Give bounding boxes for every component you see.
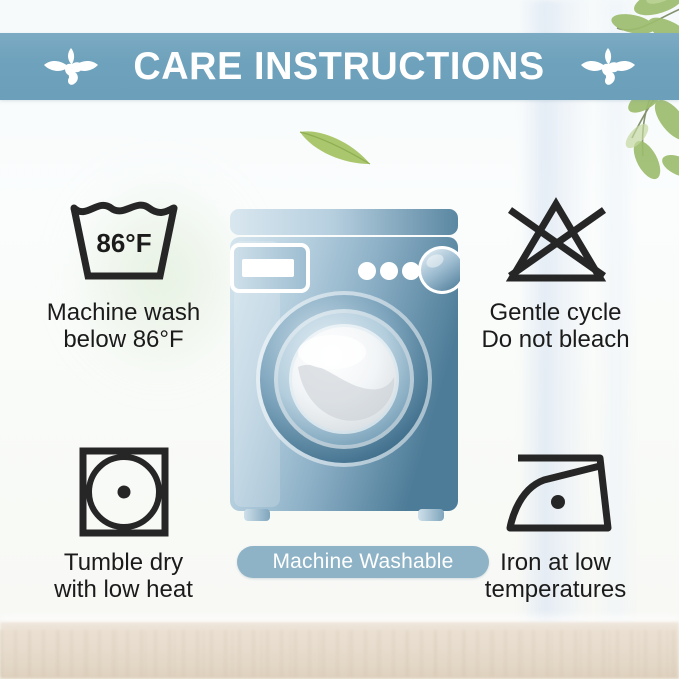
background-wood-grain bbox=[0, 630, 679, 676]
fleur-de-lis-right-icon bbox=[578, 43, 638, 91]
do-not-bleach-triangle-icon bbox=[496, 193, 616, 291]
tumble-dry-low-icon bbox=[74, 443, 174, 541]
instruction-gentle-cycle-label: Gentle cycle Do not bleach bbox=[481, 299, 629, 354]
instruction-tumble-dry-label: Tumble dry with low heat bbox=[54, 549, 193, 604]
instruction-machine-wash-label: Machine wash below 86°F bbox=[47, 299, 200, 354]
instruction-tumble-dry: Tumble dry with low heat bbox=[16, 443, 231, 604]
wash-tub-icon: 86°F bbox=[64, 193, 184, 291]
machine-washable-badge-label: Machine Washable bbox=[272, 550, 453, 574]
header-banner: CARE INSTRUCTIONS bbox=[0, 33, 679, 100]
washing-machine-illustration bbox=[228, 207, 460, 525]
fleur-de-lis-left-icon bbox=[41, 43, 101, 91]
instruction-machine-wash: 86°F Machine wash below 86°F bbox=[16, 193, 231, 354]
instruction-gentle-cycle: Gentle cycle Do not bleach bbox=[448, 193, 663, 354]
instruction-iron-label: Iron at low temperatures bbox=[485, 549, 626, 604]
floating-leaf-icon bbox=[296, 120, 374, 168]
instruction-iron: Iron at low temperatures bbox=[448, 443, 663, 604]
iron-low-temperature-icon bbox=[496, 443, 616, 541]
foliage-branch-icon bbox=[537, 0, 679, 203]
care-instructions-infographic: CARE INSTRUCTIONS bbox=[0, 0, 679, 679]
wash-temperature-value: 86°F bbox=[96, 228, 151, 258]
page-title: CARE INSTRUCTIONS bbox=[134, 45, 545, 89]
